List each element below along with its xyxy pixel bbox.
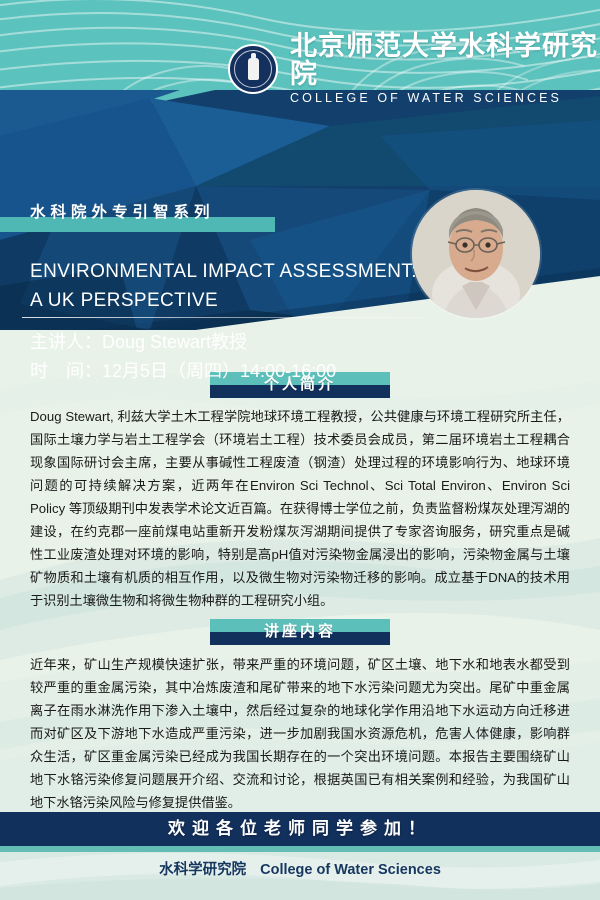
lecture-title: ENVIRONMENTAL IMPACT ASSESSMENT: A UK PE…	[30, 257, 420, 316]
hero-divider	[22, 317, 424, 318]
speaker-portrait	[412, 190, 540, 318]
section-title-content: 讲座内容	[210, 619, 390, 645]
footer-dept-en: College of Water Sciences	[260, 862, 441, 878]
section-body-content: 近年来，矿山生产规模快速扩张，带来严重的环境问题，矿区土壤、地下水和地表水都受到…	[30, 654, 570, 815]
portrait-illustration	[412, 190, 540, 318]
lecture-title-line2: A UK PERSPECTIVE	[30, 286, 420, 315]
section-banner: 讲座内容	[210, 619, 390, 645]
seminar-poster: 北京师范大学水科学研究院 COLLEGE OF WATER SCIENCES	[0, 0, 600, 900]
lecture-title-line1: ENVIRONMENTAL IMPACT ASSESSMENT:	[30, 257, 420, 286]
event-speaker: 主讲人：Doug Stewart教授	[30, 328, 336, 357]
series-label-text: 水科院外专引智系列	[30, 200, 215, 222]
brand-lockup: 北京师范大学水科学研究院 COLLEGE OF WATER SCIENCES	[228, 32, 600, 106]
footer-accent-strip	[0, 846, 600, 852]
section-heading-content: 讲座内容	[0, 619, 600, 650]
university-seal-icon	[228, 44, 278, 94]
series-label: 水科院外专引智系列	[30, 200, 215, 222]
welcome-text: 欢迎各位老师同学参加！	[0, 812, 600, 846]
section-body-bio: Doug Stewart, 利兹大学土木工程学院地球环境工程教授，公共健康与环境…	[30, 406, 570, 613]
footer-dept: 水科学研究院College of Water Sciences	[0, 858, 600, 879]
footer-dept-cn: 水科学研究院	[159, 862, 246, 878]
event-time: 时 间：12月5日（周四）14:00-16:00	[30, 357, 336, 380]
org-name-cn: 北京师范大学水科学研究院	[290, 32, 600, 89]
event-details: 主讲人：Doug Stewart教授 时 间：12月5日（周四）14:00-16…	[30, 328, 336, 380]
org-name-en: COLLEGE OF WATER SCIENCES	[290, 91, 600, 106]
